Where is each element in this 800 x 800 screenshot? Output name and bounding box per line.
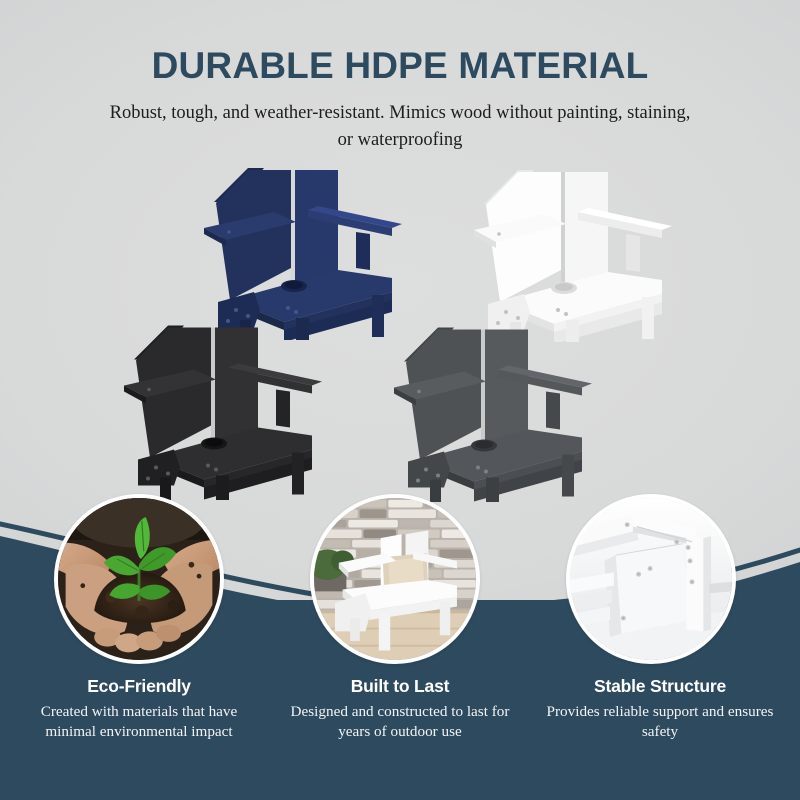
feature-list: Eco-Friendly Created with materials that… [0,676,800,800]
feature-eco-friendly: Eco-Friendly Created with materials that… [26,676,252,742]
header: DURABLE HDPE MATERIAL Robust, tough, and… [0,0,800,153]
feature-description: Designed and constructed to last for yea… [285,702,515,742]
feature-description: Provides reliable support and ensures sa… [545,702,775,742]
product-gallery [0,150,800,500]
chair-joint-closeup-photo [566,494,736,664]
hands-holding-seedling-photo [54,494,224,664]
gray-chair [386,307,616,502]
feature-built-to-last: Built to Last Designed and constructed t… [285,676,515,742]
black-chair [116,305,346,500]
white-chair-patio-photo [310,494,480,664]
page-subtitle: Robust, tough, and weather-resistant. Mi… [100,100,700,154]
feature-stable-structure: Stable Structure Provides reliable suppo… [545,676,775,742]
page-title: DURABLE HDPE MATERIAL [0,47,800,86]
feature-title: Built to Last [285,676,515,697]
feature-description: Created with materials that have minimal… [26,702,252,742]
feature-title: Stable Structure [545,676,775,697]
infographic-canvas: DURABLE HDPE MATERIAL Robust, tough, and… [0,0,800,800]
feature-title: Eco-Friendly [26,676,252,697]
photo-circles [0,490,800,680]
